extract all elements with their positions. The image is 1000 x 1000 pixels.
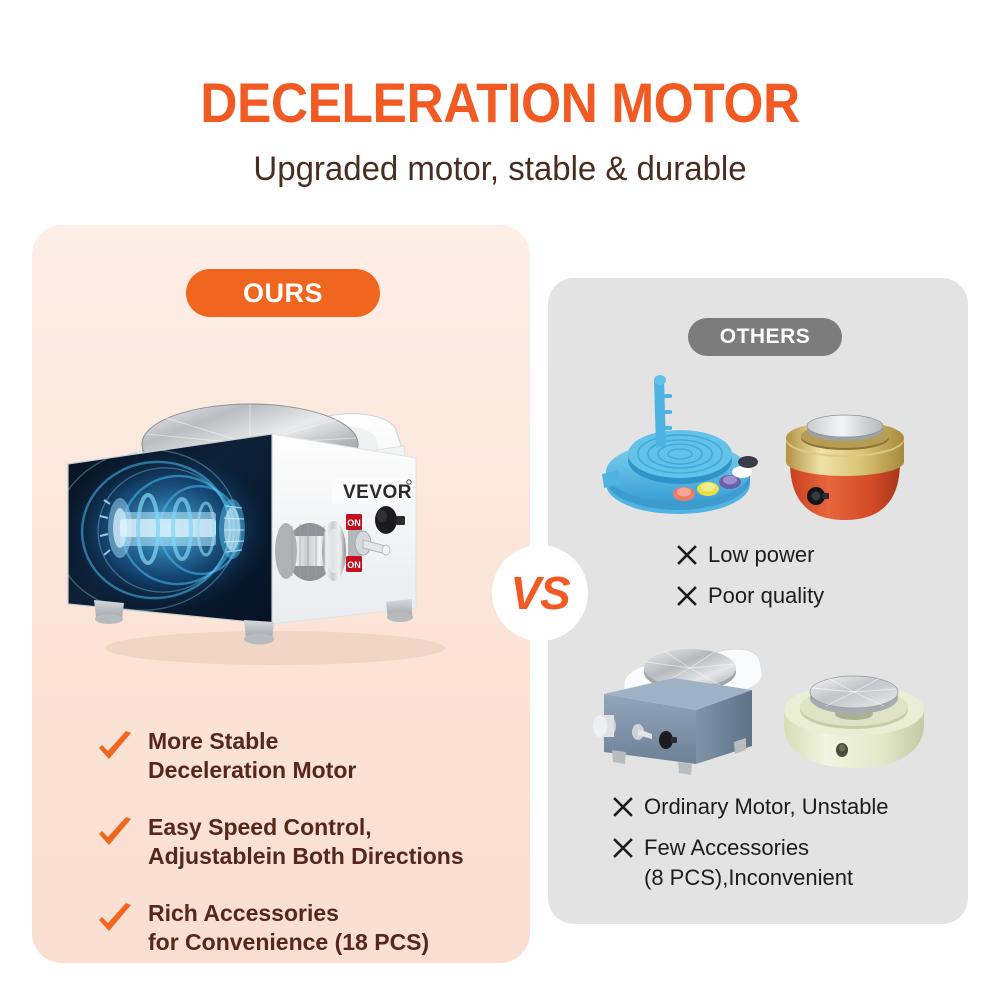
header: DECELERATION MOTOR Upgraded motor, stabl… xyxy=(0,0,1000,188)
page-title: DECELERATION MOTOR xyxy=(40,0,960,132)
ours-feature-list: More Stable Deceleration Motor Easy Spee… xyxy=(96,727,516,985)
speed-control-knob[interactable] xyxy=(275,521,346,581)
others-badge: OTHERS xyxy=(688,318,842,356)
con-line-2: (8 PCS),Inconvenient xyxy=(644,865,853,890)
ours-badge: OURS xyxy=(186,269,380,317)
feature-line-1: More Stable xyxy=(148,728,278,754)
x-icon xyxy=(676,585,698,612)
others-badge-label: OTHERS xyxy=(720,325,811,349)
infographic-canvas: DECELERATION MOTOR Upgraded motor, stabl… xyxy=(0,0,1000,1000)
others-product-3-image xyxy=(586,642,762,778)
con-text: Ordinary Motor, Unstable xyxy=(644,792,889,822)
cream-round-pottery-wheel-illustration xyxy=(776,662,932,778)
feature-item: Rich Accessories for Convenience (18 PCS… xyxy=(96,899,516,957)
orange-gold-pottery-wheel-illustration xyxy=(772,400,918,528)
feature-line-2: Adjustablein Both Directions xyxy=(148,843,464,869)
check-icon xyxy=(96,903,134,942)
feature-line-1: Easy Speed Control, xyxy=(148,814,372,840)
con-item: Few Accessories (8 PCS),Inconvenient xyxy=(612,833,889,893)
pottery-wheel-illustration: VEVOR ON xyxy=(60,372,480,672)
others-product-4-image xyxy=(776,662,932,778)
blue-toy-pottery-wheel-illustration xyxy=(592,372,762,522)
check-icon xyxy=(96,731,134,770)
con-text: Few Accessories (8 PCS),Inconvenient xyxy=(644,833,853,893)
x-icon xyxy=(612,837,634,864)
switch-on-top-label: ON xyxy=(347,518,361,528)
feature-text: More Stable Deceleration Motor xyxy=(148,727,356,785)
feature-line-2: for Convenience (18 PCS) xyxy=(148,929,429,955)
feature-text: Easy Speed Control, Adjustablein Both Di… xyxy=(148,813,464,871)
con-text: Low power xyxy=(708,540,814,570)
vs-badge: VS xyxy=(492,545,588,641)
others-product-2-image xyxy=(772,400,918,528)
others-cons-list-bottom: Ordinary Motor, Unstable Few Accessories… xyxy=(612,792,889,903)
feature-line-1: Rich Accessories xyxy=(148,900,339,926)
con-item: Low power xyxy=(676,540,824,571)
ours-product-image: VEVOR ON xyxy=(60,372,480,672)
ours-badge-label: OURS xyxy=(243,278,323,309)
blue-gray-pottery-wheel-illustration xyxy=(586,642,762,778)
x-icon xyxy=(612,796,634,823)
con-item: Poor quality xyxy=(676,581,824,612)
others-cons-list-top: Low power Poor quality xyxy=(676,540,824,622)
competitor-knob xyxy=(593,715,616,737)
page-subtitle: Upgraded motor, stable & durable xyxy=(15,132,985,188)
feature-item: Easy Speed Control, Adjustablein Both Di… xyxy=(96,813,516,871)
x-icon xyxy=(676,544,698,571)
check-icon xyxy=(96,817,134,856)
switch-on-bottom-label: ON xyxy=(347,560,361,570)
feature-item: More Stable Deceleration Motor xyxy=(96,727,516,785)
vs-label: VS xyxy=(510,566,569,620)
feature-line-2: Deceleration Motor xyxy=(148,757,356,783)
vevor-brand-label: VEVOR xyxy=(343,482,412,503)
others-product-1-image xyxy=(592,372,762,522)
con-line-1: Few Accessories xyxy=(644,835,809,860)
con-item: Ordinary Motor, Unstable xyxy=(612,792,889,823)
feature-text: Rich Accessories for Convenience (18 PCS… xyxy=(148,899,429,957)
con-text: Poor quality xyxy=(708,581,824,611)
